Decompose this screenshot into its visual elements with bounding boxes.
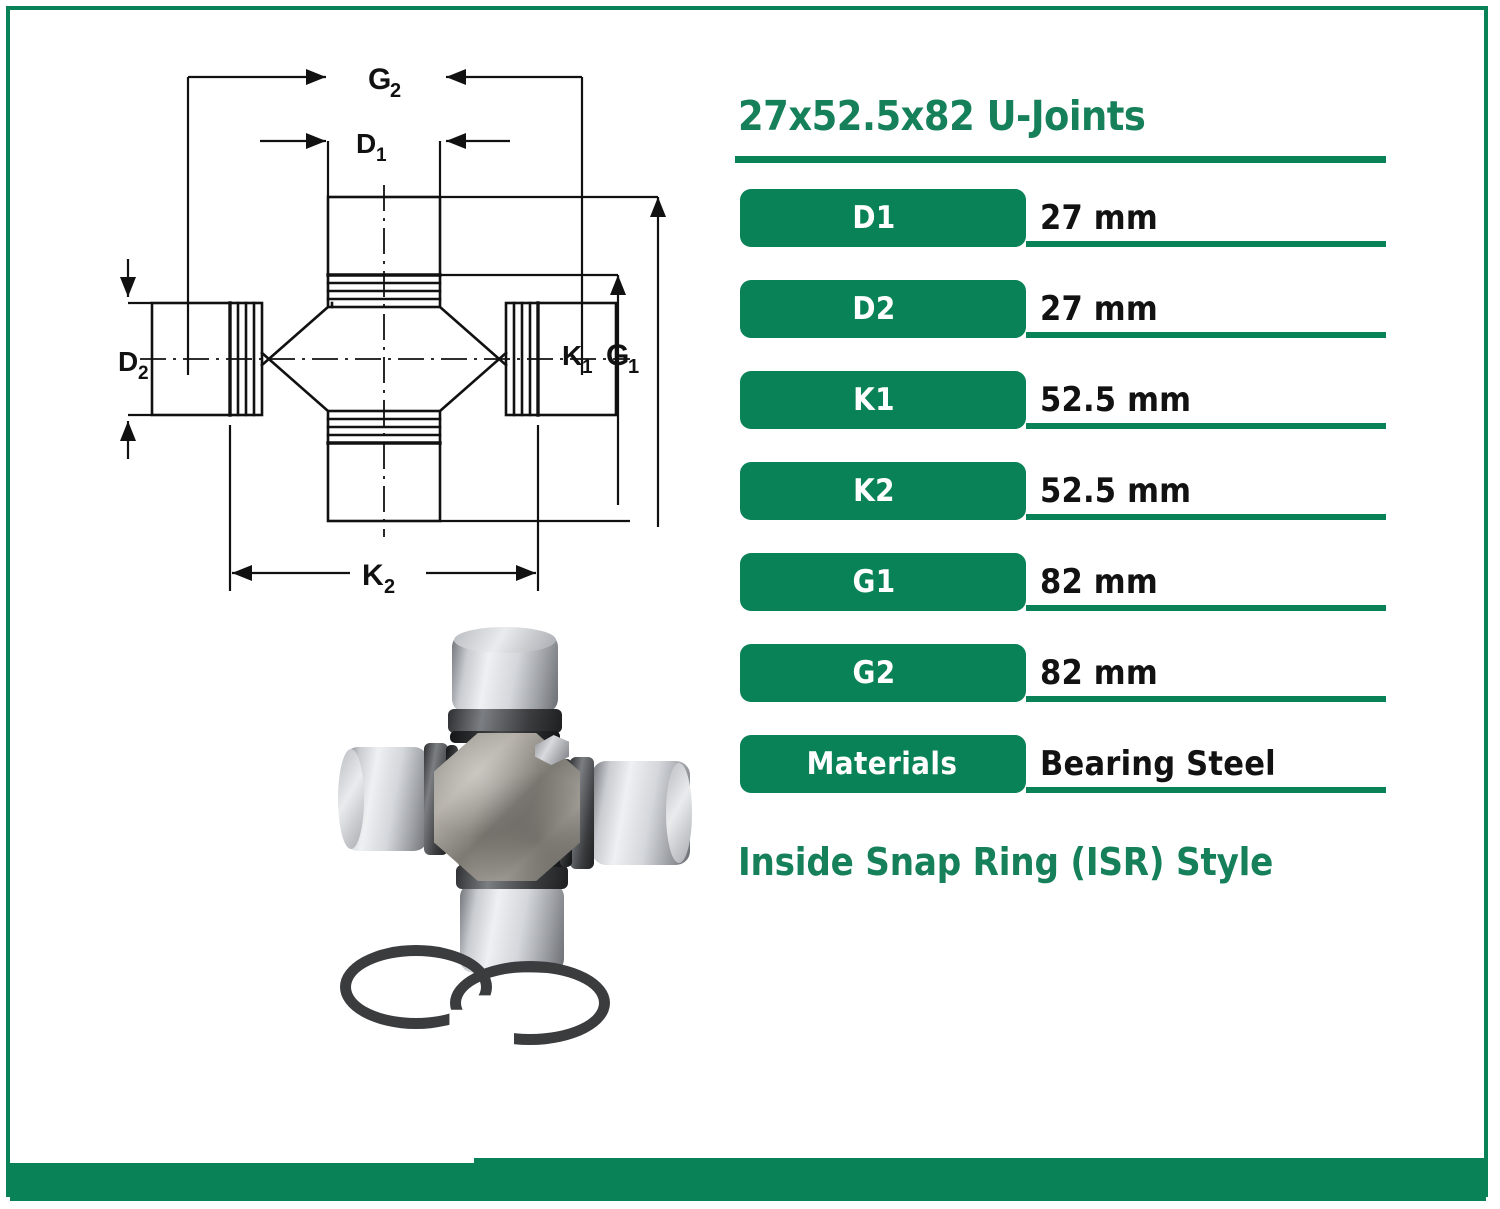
bearing-cap-left-face <box>338 749 364 849</box>
specification-panel: 27x52.5x82 U-Joints D1 27 mm D2 27 mm K1… <box>735 95 1390 884</box>
bearing-collar-top <box>448 709 562 733</box>
caption-d2-subscript: 2 <box>138 363 149 384</box>
table-row: D1 27 mm <box>735 189 1390 280</box>
caption-k1: K <box>562 340 582 371</box>
dimension-arrowheads <box>120 69 666 581</box>
spec-value-g2: 82 mm <box>1040 644 1158 702</box>
spec-label-text: K1 <box>853 382 895 418</box>
caption-g1-subscript: 1 <box>628 356 639 378</box>
title-underline <box>735 156 1386 163</box>
center-lines <box>140 185 630 537</box>
table-row: K1 52.5 mm <box>735 371 1390 462</box>
caption-d2: D <box>118 346 138 377</box>
caption-k2: K <box>362 559 384 592</box>
footer-accent-bar-right <box>474 1158 1486 1201</box>
row-underline <box>1026 605 1386 611</box>
u-joint-dimension-diagram: G 2 D 1 D 2 K 1 G 1 K 2 <box>110 45 690 625</box>
table-row: D2 27 mm <box>735 280 1390 371</box>
spec-label-pill-g1: G1 <box>740 553 1026 611</box>
snap-ring-right <box>450 961 610 1045</box>
bearing-cap-right-face <box>666 763 692 863</box>
spec-label-pill-k2: K2 <box>740 462 1026 520</box>
spec-label-text: G2 <box>852 655 895 691</box>
row-underline <box>1026 787 1386 793</box>
style-note: Inside Snap Ring (ISR) Style <box>738 840 1390 884</box>
spec-label-text: G1 <box>852 564 895 600</box>
row-underline <box>1026 696 1386 702</box>
spec-value-k1: 52.5 mm <box>1040 371 1191 429</box>
spec-label-pill-k1: K1 <box>740 371 1026 429</box>
caption-d1-subscript: 1 <box>376 145 387 166</box>
spec-label-text: D1 <box>852 200 895 236</box>
caption-k2-subscript: 2 <box>384 576 395 598</box>
row-underline <box>1026 423 1386 429</box>
spec-label-pill-g2: G2 <box>740 644 1026 702</box>
technical-drawing: G 2 D 1 D 2 K 1 G 1 K 2 <box>110 45 690 625</box>
table-row: K2 52.5 mm <box>735 462 1390 553</box>
row-underline <box>1026 332 1386 338</box>
spec-value-d1: 27 mm <box>1040 189 1158 247</box>
spec-value-d2: 27 mm <box>1040 280 1158 338</box>
dimension-captions: G 2 D 1 D 2 K 1 G 1 K 2 <box>118 63 639 598</box>
caption-g2: G <box>368 63 391 96</box>
page-title: 27x52.5x82 U-Joints <box>738 95 1390 138</box>
caption-k1-subscript: 1 <box>582 357 593 378</box>
spec-label-pill-materials: Materials <box>740 735 1026 793</box>
table-row: G2 82 mm <box>735 644 1390 735</box>
spec-value-g1: 82 mm <box>1040 553 1158 611</box>
spec-label-text: Materials <box>807 746 958 782</box>
bearing-cap-bottom <box>460 883 564 973</box>
bearing-cap-top-face <box>454 627 556 653</box>
specification-table: D1 27 mm D2 27 mm K1 52.5 mm K2 52.5 mm <box>735 189 1390 826</box>
footer-accent-bar-left <box>10 1163 480 1201</box>
product-photo <box>330 615 730 1075</box>
spec-label-text: K2 <box>853 473 895 509</box>
table-row: Materials Bearing Steel <box>735 735 1390 826</box>
spec-value-materials: Bearing Steel <box>1040 735 1276 793</box>
spec-label-pill-d1: D1 <box>740 189 1026 247</box>
caption-g2-subscript: 2 <box>390 80 401 102</box>
product-photo-stage <box>330 615 730 1075</box>
caption-d1: D <box>356 128 376 159</box>
caption-g1: G <box>606 339 629 372</box>
row-underline <box>1026 241 1386 247</box>
table-row: G1 82 mm <box>735 553 1390 644</box>
spec-label-pill-d2: D2 <box>740 280 1026 338</box>
spec-label-text: D2 <box>852 291 895 327</box>
spec-value-k2: 52.5 mm <box>1040 462 1191 520</box>
row-underline <box>1026 514 1386 520</box>
dimension-lines <box>128 77 658 591</box>
